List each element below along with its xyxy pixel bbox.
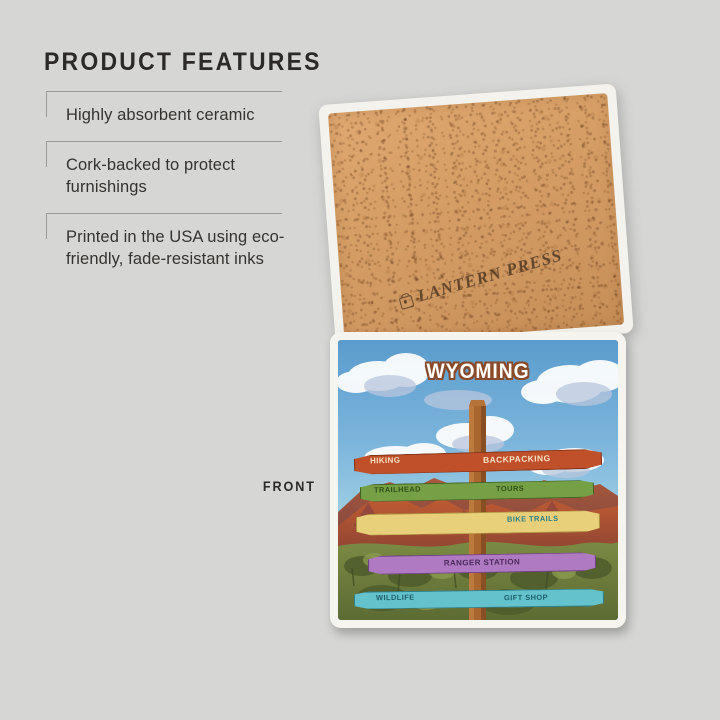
- front-label: FRONT: [263, 478, 316, 494]
- brand-stamp: LANTERN PRESS: [396, 246, 565, 313]
- sign-banner: RANGER STATION: [368, 554, 596, 573]
- feature-tick: [46, 91, 47, 117]
- sign-banner: HIKING BACKPACKING: [354, 452, 602, 472]
- feature-divider: [46, 141, 282, 142]
- feature-item: Highly absorbent ceramic: [44, 91, 304, 127]
- cork-surface: LANTERN PRESS: [328, 93, 624, 345]
- feature-item: Printed in the USA using eco-friendly, f…: [44, 213, 304, 271]
- coaster-front-view: WYOMING HIKING BACKPACKING TRAILHEAD TOU…: [330, 332, 626, 628]
- sign-label-left: TRAILHEAD: [374, 485, 421, 495]
- feature-text: Cork-backed to protect furnishings: [66, 154, 304, 199]
- coaster-back-view: LANTERN PRESS: [318, 83, 634, 354]
- sign-label-left: WILDLIFE: [376, 593, 415, 603]
- feature-text: Highly absorbent ceramic: [66, 104, 304, 127]
- feature-divider: [46, 91, 282, 92]
- feature-text: Printed in the USA using eco-friendly, f…: [66, 226, 304, 271]
- feature-item: Cork-backed to protect furnishings: [44, 141, 304, 199]
- sign-label-right: TOURS: [496, 484, 524, 494]
- sign-banner: BIKE TRAILS: [356, 512, 600, 534]
- coaster-artwork: WYOMING HIKING BACKPACKING TRAILHEAD TOU…: [338, 340, 618, 620]
- feature-divider: [46, 213, 282, 214]
- feature-tick: [46, 141, 47, 167]
- brand-name: LANTERN PRESS: [415, 246, 565, 307]
- feature-tick: [46, 213, 47, 239]
- sign-label-left: HIKING: [370, 456, 401, 466]
- sign-label-right: BACKPACKING: [483, 453, 551, 465]
- sign-label-right: GIFT SHOP: [504, 593, 548, 603]
- sign-label-right: BIKE TRAILS: [507, 514, 595, 524]
- product-listing-canvas: PRODUCT FEATURES Highly absorbent cerami…: [0, 0, 720, 720]
- lantern-icon: [397, 292, 414, 310]
- sign-banner: WILDLIFE GIFT SHOP: [354, 590, 604, 608]
- page-title: PRODUCT FEATURES: [44, 48, 283, 77]
- artwork-title: WYOMING: [338, 360, 618, 384]
- product-features-panel: PRODUCT FEATURES Highly absorbent cerami…: [44, 48, 304, 271]
- sign-banner: TRAILHEAD TOURS: [360, 482, 594, 500]
